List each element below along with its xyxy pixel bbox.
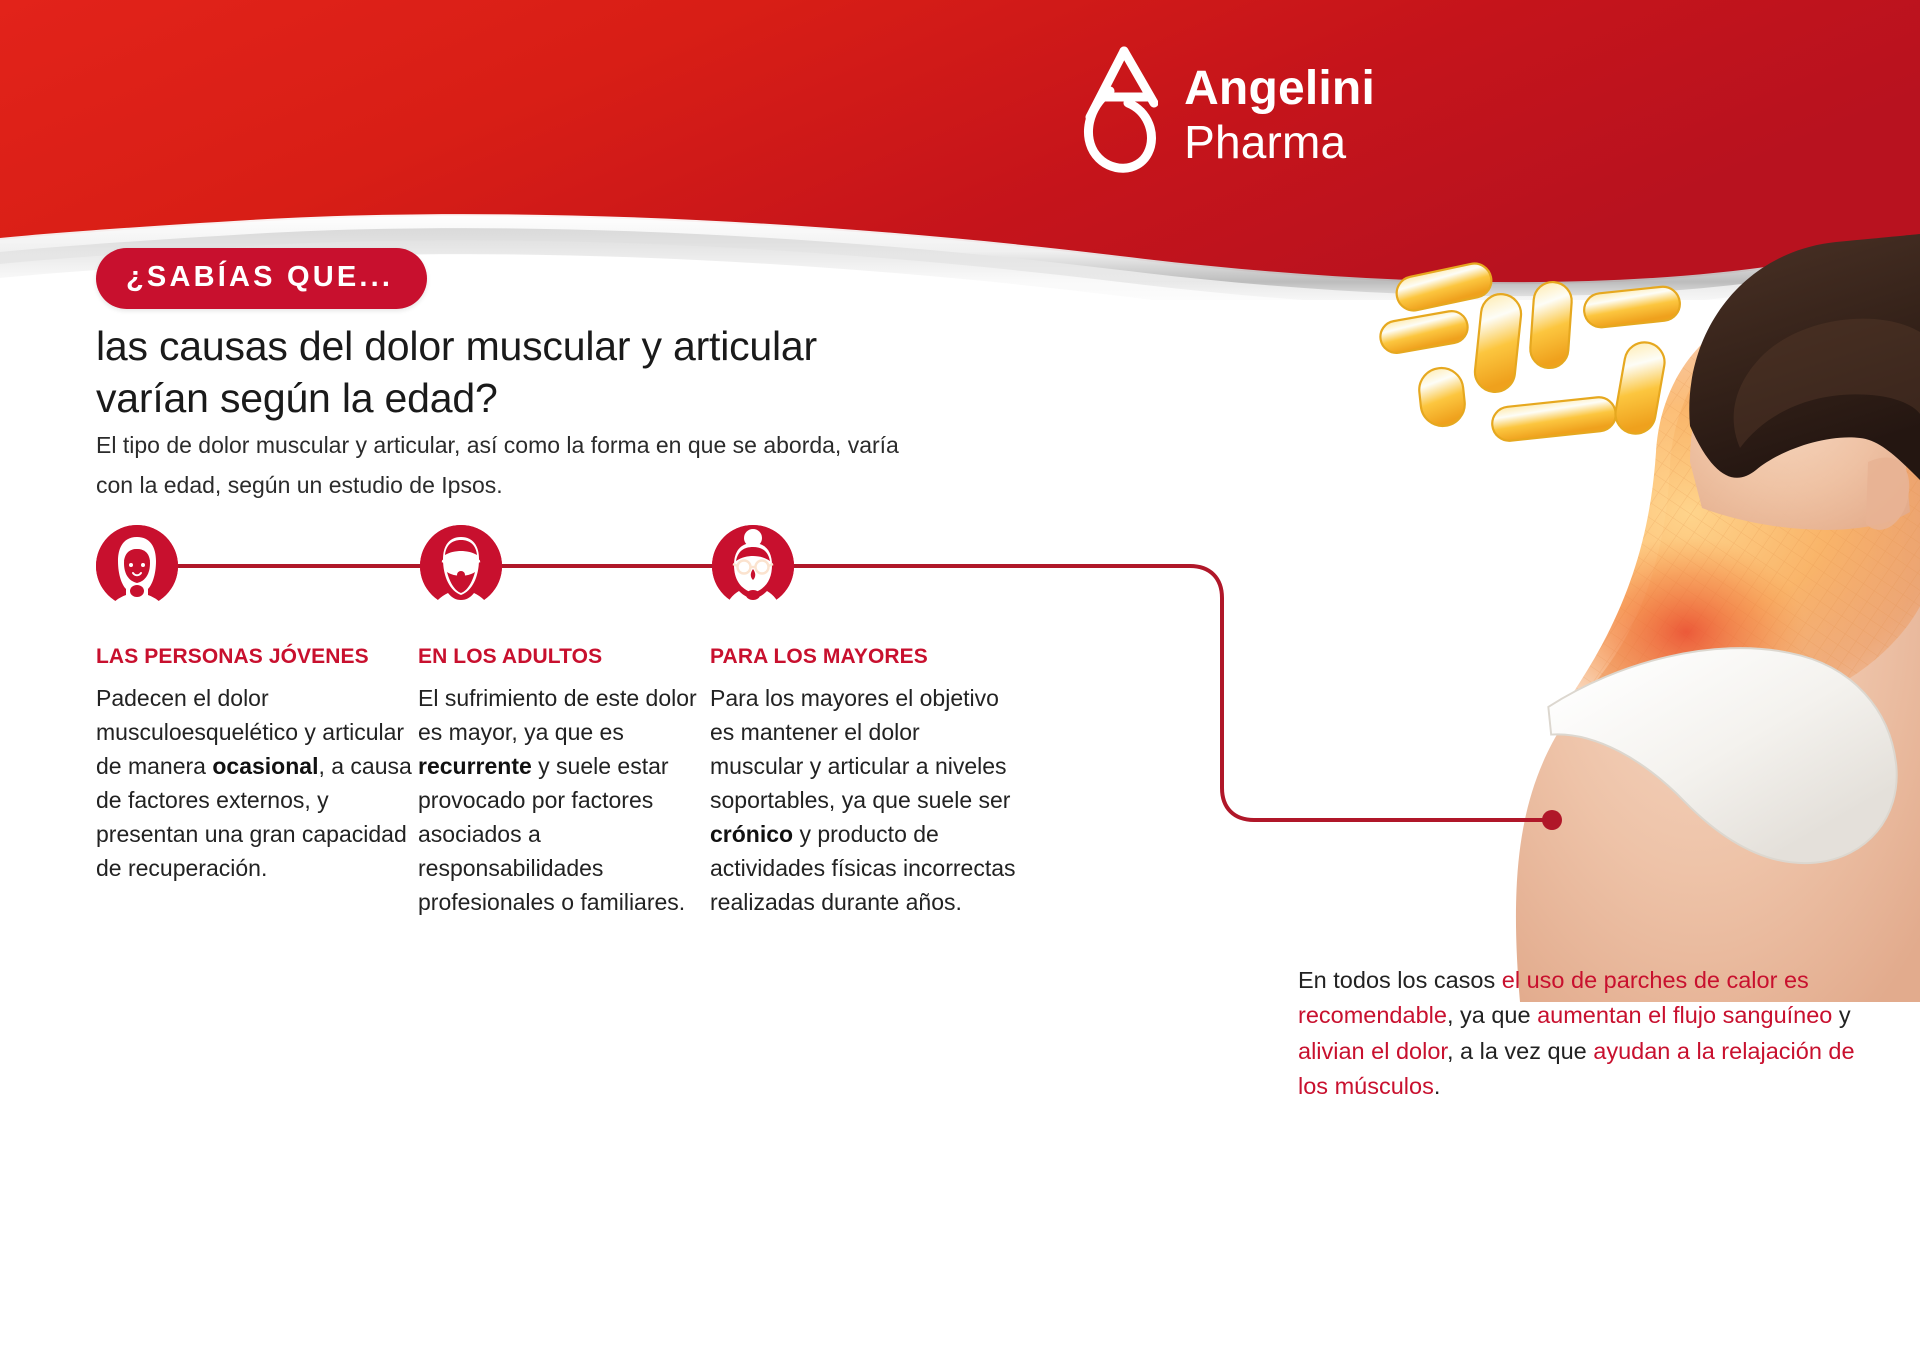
elderly-woman-glasses-face-icon	[712, 525, 794, 607]
young-woman-face-icon	[96, 525, 178, 607]
text-bold: recurrente	[418, 753, 532, 779]
headline-line-1: las causas del dolor muscular y articula…	[96, 320, 1036, 372]
infographic-page: Angelini Pharma	[0, 0, 1920, 1358]
callout-t3: y	[1832, 1002, 1850, 1028]
column-seniors-body: Para los mayores el objetivo es mantener…	[710, 681, 1016, 919]
callout-t1: En todos los casos	[1298, 967, 1502, 993]
text-pre: Para los mayores el objetivo es mantener…	[710, 685, 1010, 813]
age-group-columns: LAS PERSONAS JÓVENES Padecen el dolor mu…	[96, 645, 1016, 919]
column-young-title: LAS PERSONAS JÓVENES	[96, 645, 418, 669]
brand-sub: Pharma	[1184, 119, 1375, 165]
sabias-que-badge: ¿SABÍAS QUE...	[96, 248, 427, 309]
callout-t5: .	[1434, 1073, 1441, 1099]
column-adults-body: El sufrimiento de este dolor es mayor, y…	[418, 681, 710, 919]
column-adults-title: EN LOS ADULTOS	[418, 645, 710, 669]
column-seniors: PARA LOS MAYORES Para los mayores el obj…	[710, 645, 1016, 919]
page-title: las causas del dolor muscular y articula…	[96, 320, 1036, 424]
headline-line-2: varían según la edad?	[96, 372, 1036, 424]
bearded-man-glasses-face-icon	[420, 525, 502, 607]
text-pre: El sufrimiento de este dolor es mayor, y…	[418, 685, 697, 745]
column-adults: EN LOS ADULTOS El sufrimiento de este do…	[418, 645, 710, 919]
callout-h2: aumentan el flujo sanguíneo	[1537, 1002, 1832, 1028]
callout-t2: , ya que	[1447, 1002, 1537, 1028]
intro-paragraph: El tipo de dolor muscular y articular, a…	[96, 425, 996, 506]
callout-t4: , a la vez que	[1447, 1038, 1593, 1064]
intro-line-2: con la edad, según un estudio de Ipsos.	[96, 465, 996, 505]
heat-patch-recommendation-text: En todos los casos el uso de parches de …	[1298, 963, 1878, 1104]
brand-name: Angelini	[1184, 65, 1375, 113]
brand-logo: Angelini Pharma	[1080, 45, 1375, 185]
angelini-droplet-a-logo-icon	[1080, 45, 1158, 185]
text-bold: crónico	[710, 821, 793, 847]
text-bold: ocasional	[212, 753, 318, 779]
column-young: LAS PERSONAS JÓVENES Padecen el dolor mu…	[96, 645, 418, 919]
callout-h3: alivian el dolor	[1298, 1038, 1447, 1064]
intro-line-1: El tipo de dolor muscular y articular, a…	[96, 425, 996, 465]
column-young-body: Padecen el dolor musculoesquelético y ar…	[96, 681, 418, 885]
column-seniors-title: PARA LOS MAYORES	[710, 645, 1016, 669]
